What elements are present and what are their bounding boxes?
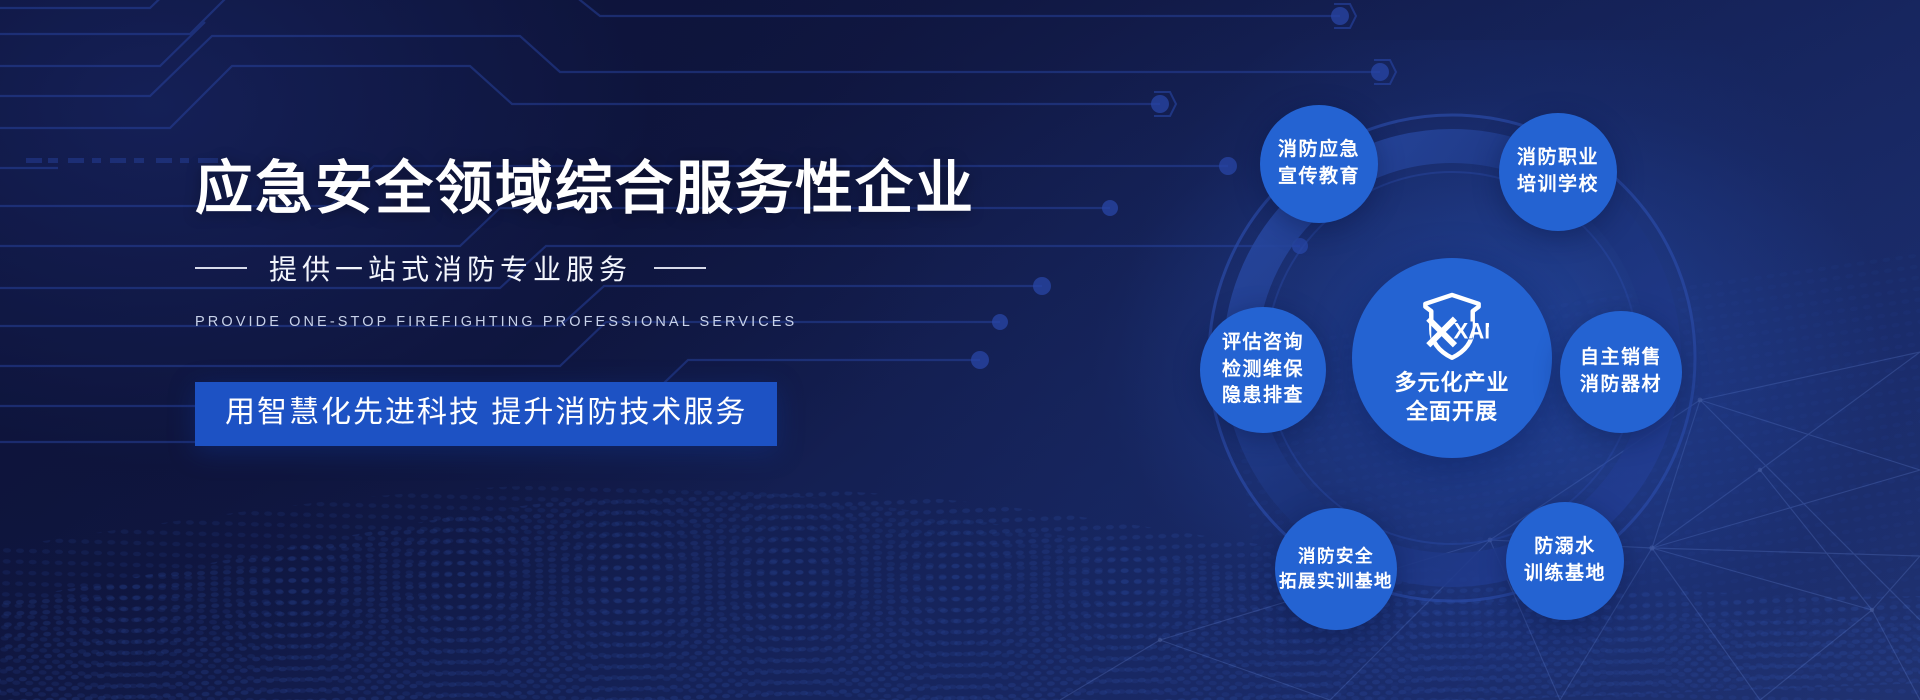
center-node-text: 多元化产业 全面开展 <box>1394 369 1509 426</box>
node-assessment-inspection[interactable]: 评估咨询 检测维保 隐患排查 <box>1200 307 1326 433</box>
english-tagline: PROVIDE ONE-STOP FIREFIGHTING PROFESSION… <box>195 314 1035 330</box>
services-orbit-diagram: XAN 多元化产业 全面开展 消防应急 宣传教育 消防职业 培训学校 评估咨询 … <box>1100 45 1820 665</box>
node-line2: 宣传教育 <box>1278 164 1360 191</box>
node-fire-emergency-education[interactable]: 消防应急 宣传教育 <box>1260 105 1378 223</box>
cta-banner-button[interactable]: 用智慧化先进科技 提升消防技术服务 <box>195 382 777 446</box>
node-line3: 隐患排查 <box>1222 383 1304 410</box>
node-line1: 消防职业 <box>1517 145 1599 172</box>
banner-root: 应急安全领域综合服务性企业 提供一站式消防专业服务 PROVIDE ONE-ST… <box>0 0 1920 700</box>
node-safety-training-base[interactable]: 消防安全 拓展实训基地 <box>1275 508 1397 630</box>
node-line2: 训练基地 <box>1524 561 1606 588</box>
node-line1: 自主销售 <box>1580 345 1662 372</box>
page-title: 应急安全领域综合服务性企业 <box>195 160 1035 218</box>
node-line1: 防溺水 <box>1534 534 1596 561</box>
subheadline: 提供一站式消防专业服务 <box>269 248 632 288</box>
rule-left-icon <box>195 267 247 269</box>
node-line1: 消防应急 <box>1278 137 1360 164</box>
rule-right-icon <box>654 267 706 269</box>
center-node[interactable]: XAN 多元化产业 全面开展 <box>1352 258 1552 458</box>
node-line2: 检测维保 <box>1222 357 1304 384</box>
subheadline-row: 提供一站式消防专业服务 <box>195 248 1035 288</box>
node-line2: 消防器材 <box>1580 372 1662 399</box>
node-fire-vocational-school[interactable]: 消防职业 培训学校 <box>1499 113 1617 231</box>
node-line1: 评估咨询 <box>1222 330 1304 357</box>
node-anti-drowning-base[interactable]: 防溺水 训练基地 <box>1506 502 1624 620</box>
node-line2: 培训学校 <box>1517 172 1599 199</box>
headline-block: 应急安全领域综合服务性企业 提供一站式消防专业服务 PROVIDE ONE-ST… <box>195 160 1035 446</box>
shield-x-icon: XAN <box>1415 289 1489 363</box>
svg-text:XAN: XAN <box>1453 319 1489 344</box>
node-line2: 拓展实训基地 <box>1279 569 1393 594</box>
node-equipment-sales[interactable]: 自主销售 消防器材 <box>1560 311 1682 433</box>
node-line1: 消防安全 <box>1298 544 1374 569</box>
center-node-line1: 多元化产业 <box>1394 369 1509 398</box>
center-node-line2: 全面开展 <box>1394 398 1509 427</box>
